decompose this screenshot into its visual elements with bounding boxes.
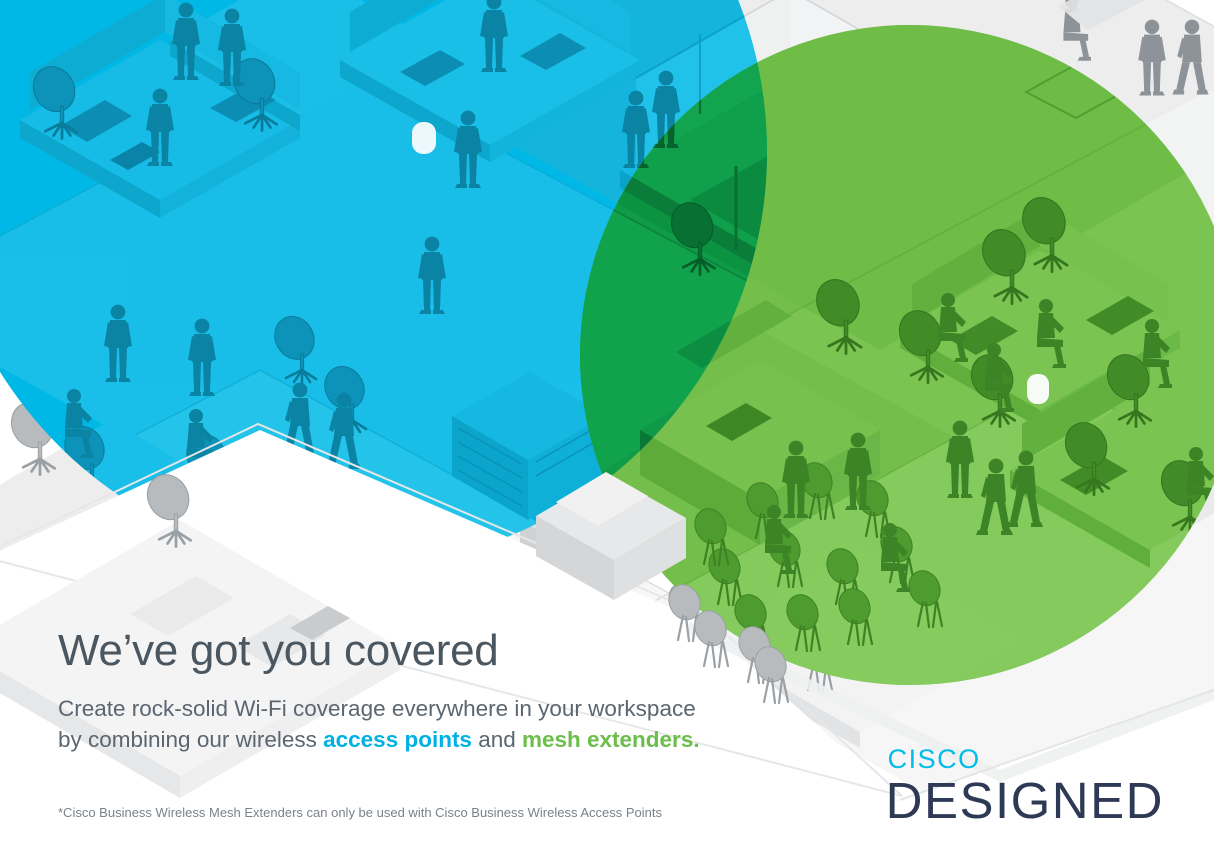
page-title: We’ve got you covered xyxy=(58,628,778,674)
logo-designed-wordmark: DESIGNED xyxy=(886,775,1164,826)
logo-cisco-wordmark: CISCO xyxy=(888,746,1164,773)
subheadline: Create rock-solid Wi-Fi coverage everywh… xyxy=(58,694,778,755)
subhead-line2-lead: by combining our wireless xyxy=(58,727,323,752)
marketing-copy: We’ve got you covered Create rock-solid … xyxy=(58,628,778,755)
mesh-extender-device xyxy=(1027,374,1049,404)
cisco-designed-logo: CISCO DESIGNED xyxy=(886,746,1164,826)
subhead-line1: Create rock-solid Wi-Fi coverage everywh… xyxy=(58,696,696,721)
mesh-extenders-highlight: mesh extenders. xyxy=(522,727,700,752)
access-point-device xyxy=(412,122,436,154)
footnote-disclaimer: *Cisco Business Wireless Mesh Extenders … xyxy=(58,805,662,820)
access-points-highlight: access points xyxy=(323,727,472,752)
subhead-conjunction: and xyxy=(472,727,522,752)
poster-canvas: We’ve got you covered Create rock-solid … xyxy=(0,0,1214,854)
